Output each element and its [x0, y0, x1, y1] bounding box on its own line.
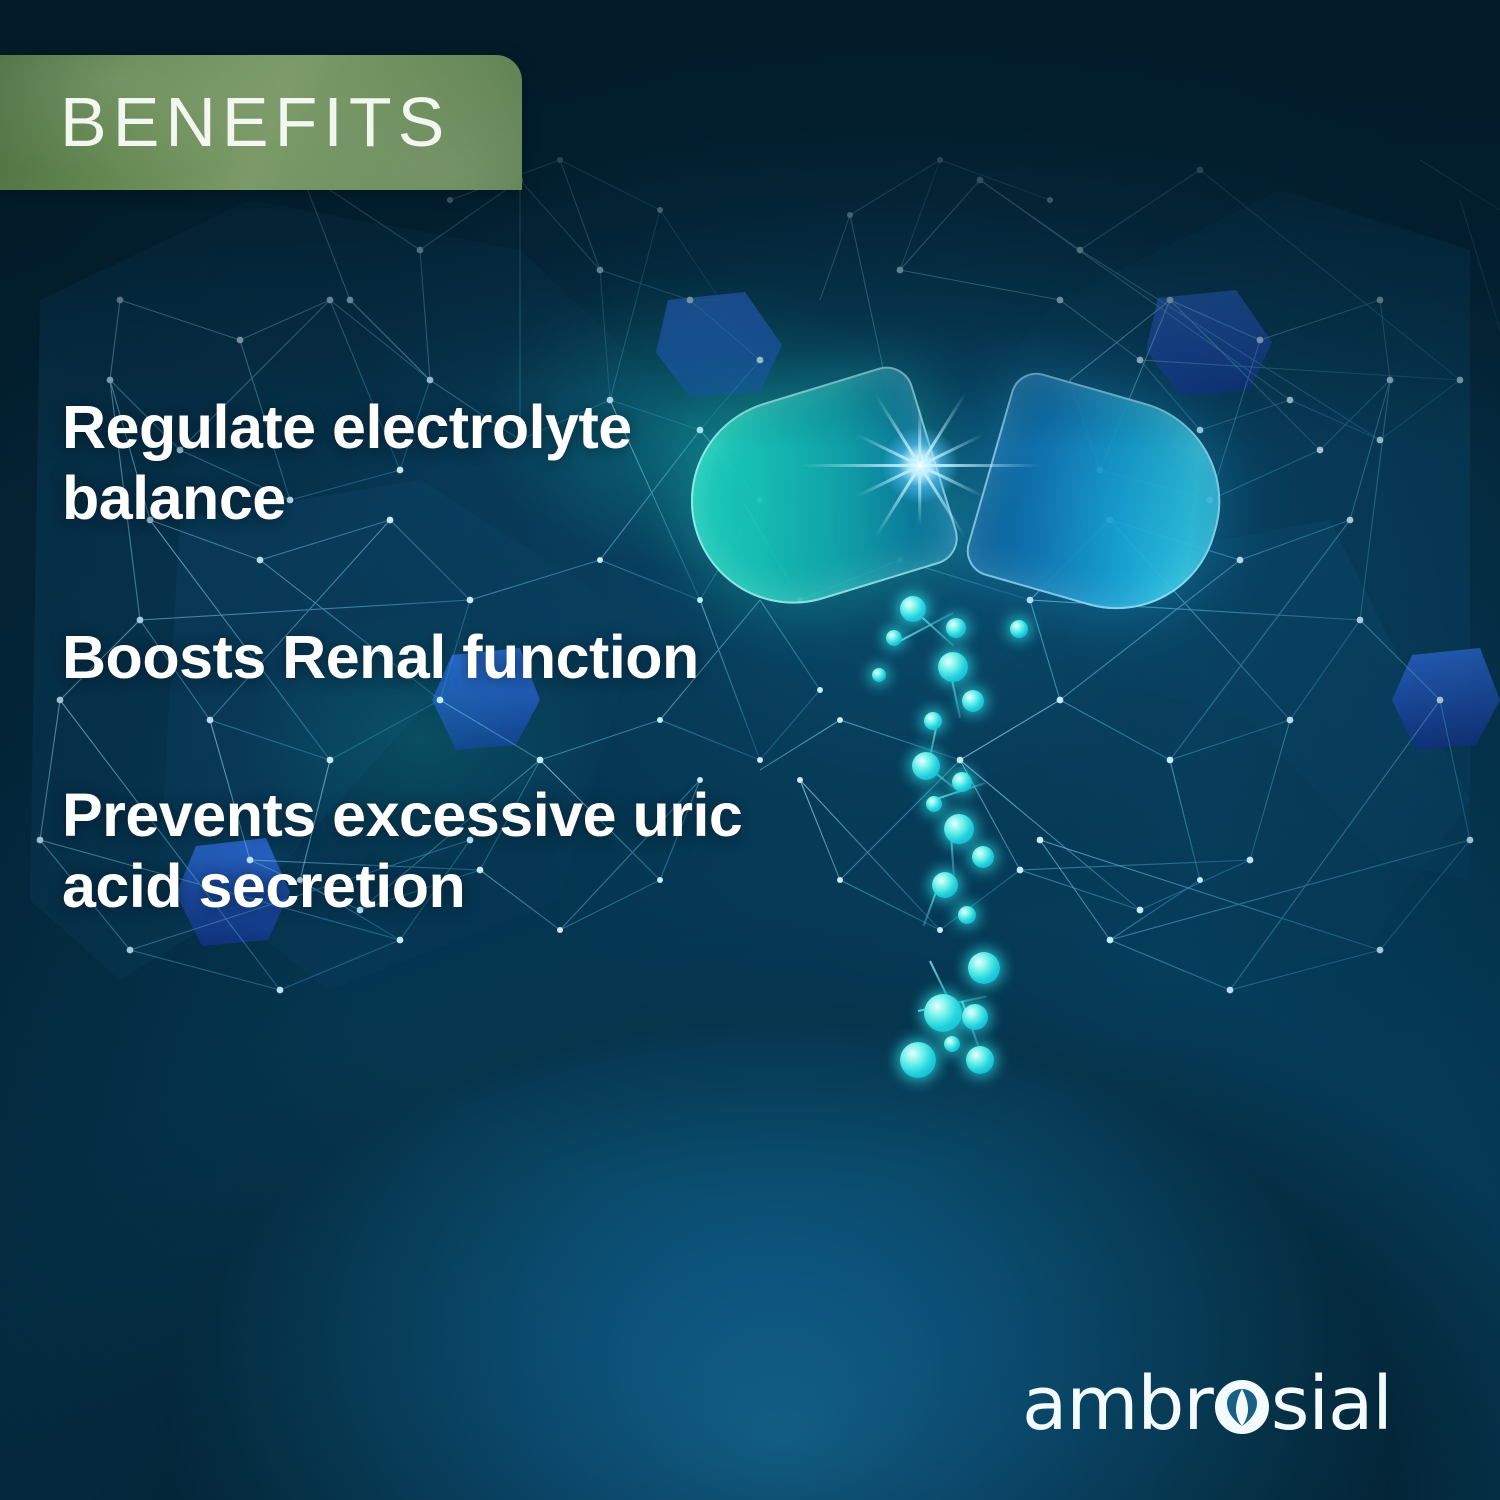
brand-name-after: sial: [1271, 1367, 1392, 1441]
brand-wordmark: ambr sial: [1022, 1367, 1392, 1441]
leaf-in-circle-icon: [1214, 1379, 1270, 1435]
brand-logo: ambr sial: [1022, 1362, 1392, 1446]
benefits-banner-label: BENEFITS: [0, 55, 522, 190]
benefits-list: Regulate electrolyte balance Boosts Rena…: [62, 392, 822, 922]
brand-name-before: ambr: [1022, 1367, 1213, 1441]
benefit-item-3: Prevents excessive uric acid secretion: [62, 780, 822, 922]
benefit-item-1: Regulate electrolyte balance: [62, 392, 822, 534]
benefits-poster: BENEFITS Regulate electrolyte balance Bo…: [0, 0, 1500, 1500]
benefits-banner: BENEFITS: [0, 55, 522, 190]
benefit-item-2: Boosts Renal function: [62, 622, 822, 693]
